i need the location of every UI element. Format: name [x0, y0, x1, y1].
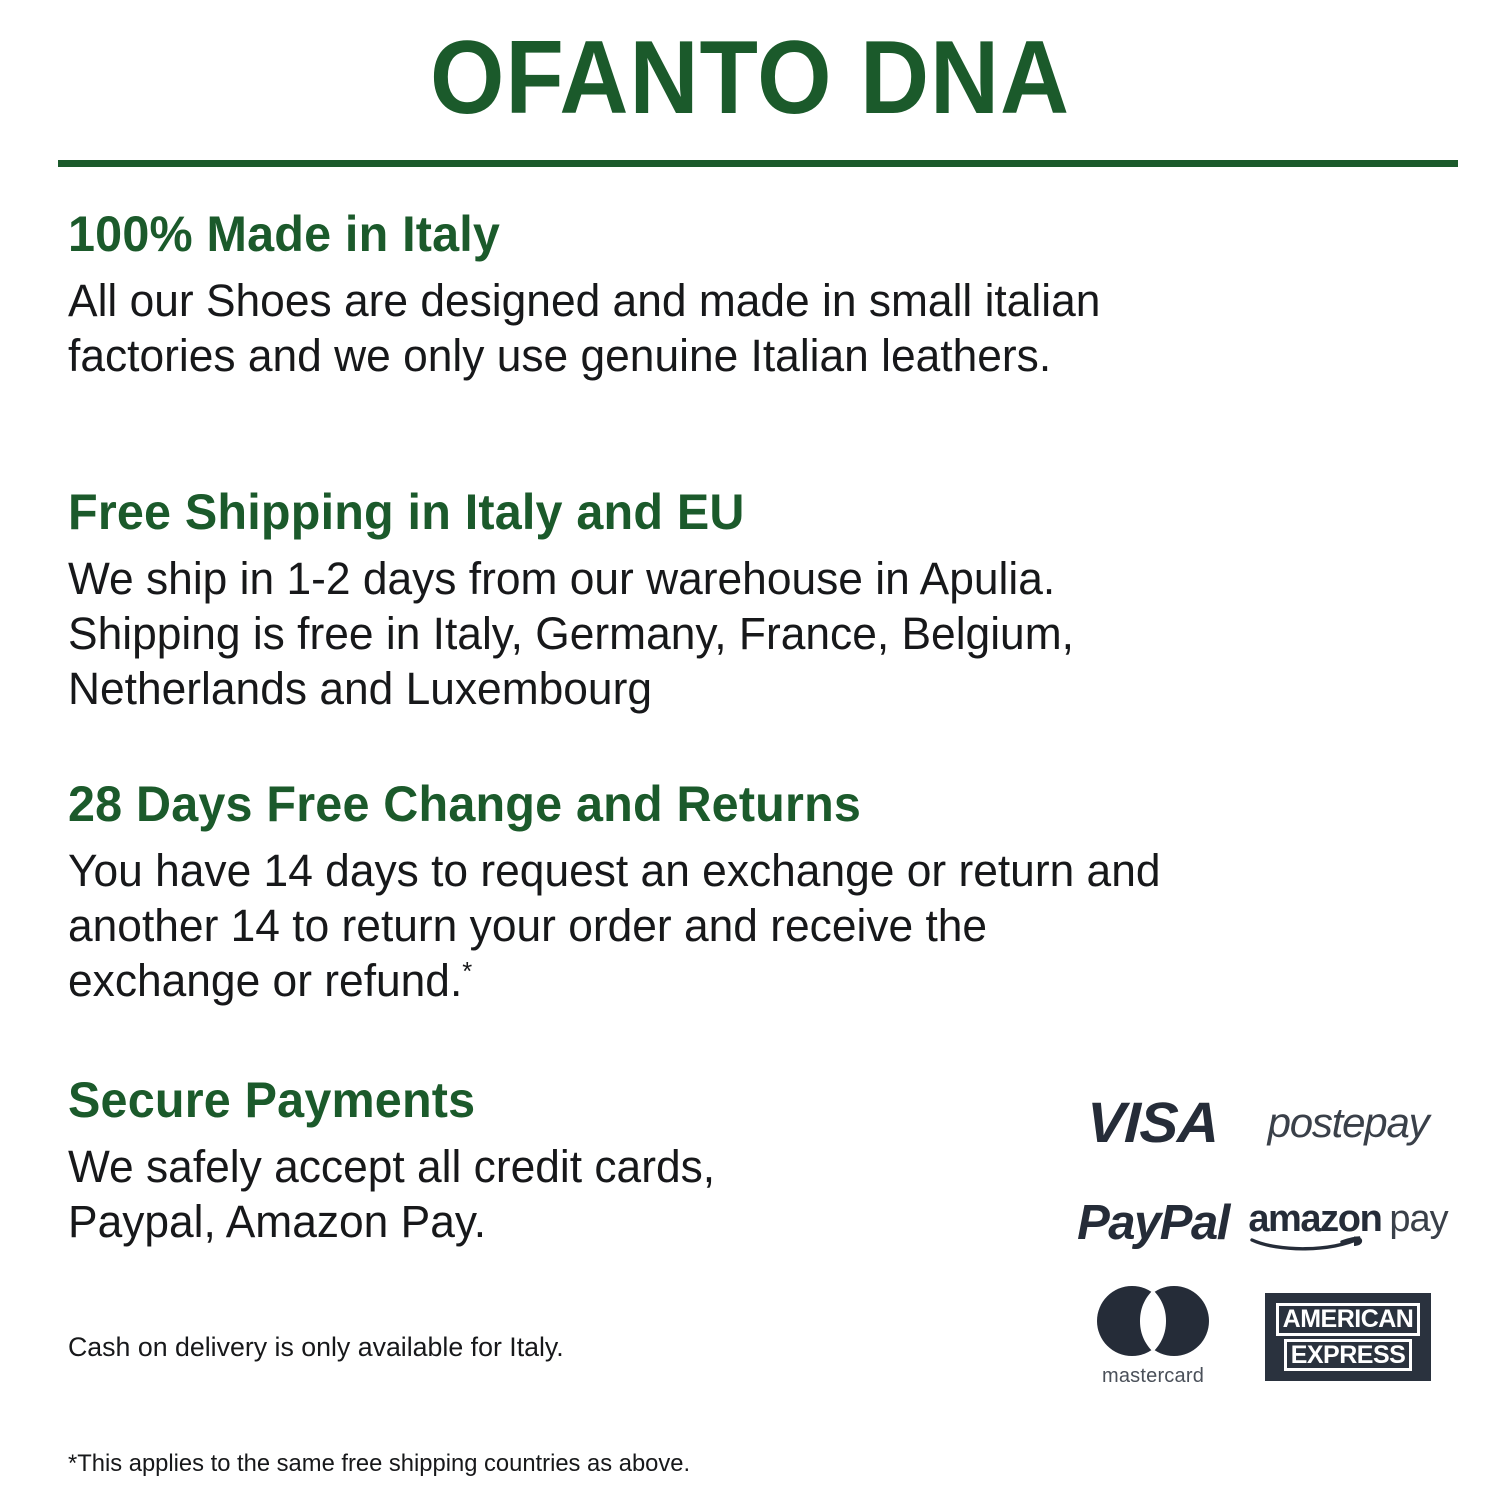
amazon-pay-word: pay — [1389, 1198, 1447, 1240]
section-secure-payments: Secure Payments We safely accept all cre… — [68, 1072, 725, 1250]
amex-line-2: EXPRESS — [1284, 1339, 1413, 1371]
payment-row-1: VISA postepay — [1055, 1085, 1445, 1161]
payment-methods-group: VISA postepay PayPal amazonpay — [1055, 1085, 1445, 1389]
section-heading-secure-payments: Secure Payments — [68, 1072, 705, 1128]
body-line: All our Shoes are designed and made in s… — [68, 274, 1100, 329]
cash-on-delivery-note: Cash on delivery is only available for I… — [68, 1331, 564, 1365]
footnote-marker: * — [462, 956, 472, 986]
payment-row-2: PayPal amazonpay — [1055, 1185, 1445, 1261]
body-line: Netherlands and Luxembourg — [68, 662, 1074, 717]
amazon-pay-wrap: amazonpay — [1248, 1198, 1447, 1249]
postepay-logo: postepay — [1251, 1085, 1445, 1161]
section-made-in-italy: 100% Made in Italy All our Shoes are des… — [68, 206, 1116, 384]
amex-box: AMERICAN EXPRESS — [1265, 1293, 1431, 1381]
mastercard-wordmark: mastercard — [1102, 1365, 1204, 1388]
section-body-returns: You have 14 days to request an exchange … — [68, 844, 1161, 1009]
body-line: Paypal, Amazon Pay. — [68, 1195, 715, 1250]
body-line: factories and we only use genuine Italia… — [68, 329, 1100, 384]
body-line-text: exchange or refund. — [68, 955, 462, 1006]
visa-wordmark: VISA — [1086, 1090, 1220, 1156]
paypal-wordmark: PayPal — [1077, 1195, 1229, 1251]
page-title: OFANTO DNA — [60, 26, 1440, 130]
body-line: You have 14 days to request an exchange … — [68, 844, 1161, 899]
section-free-shipping: Free Shipping in Italy and EU We ship in… — [68, 484, 1089, 717]
dna-info-page: OFANTO DNA 100% Made in Italy All our Sh… — [0, 0, 1500, 1500]
section-heading-free-shipping: Free Shipping in Italy and EU — [68, 484, 1059, 540]
amazon-wordmark: amazon — [1248, 1198, 1381, 1240]
amazon-pay-logo: amazonpay — [1251, 1185, 1445, 1261]
mastercard-overlap-icon — [1097, 1286, 1209, 1356]
visa-logo: VISA — [1055, 1085, 1251, 1161]
postepay-wordmark: postepay — [1268, 1099, 1429, 1147]
body-line: We safely accept all credit cards, — [68, 1140, 715, 1195]
mastercard-circles-icon — [1097, 1286, 1209, 1356]
paypal-logo: PayPal — [1055, 1185, 1251, 1261]
footnote-text: *This applies to the same free shipping … — [68, 1449, 690, 1479]
section-returns: 28 Days Free Change and Returns You have… — [68, 776, 1177, 1009]
section-body-free-shipping: We ship in 1-2 days from our warehouse i… — [68, 552, 1074, 717]
body-line: We ship in 1-2 days from our warehouse i… — [68, 552, 1074, 607]
body-line-with-footnote: exchange or refund.* — [68, 954, 1161, 1009]
header-divider — [58, 160, 1458, 167]
body-line: Shipping is free in Italy, Germany, Fran… — [68, 607, 1074, 662]
mastercard-wrap: mastercard — [1097, 1286, 1209, 1388]
section-heading-returns: 28 Days Free Change and Returns — [68, 776, 1144, 832]
brand-header: OFANTO DNA — [0, 26, 1500, 130]
section-heading-made-in-italy: 100% Made in Italy — [68, 206, 1085, 262]
mastercard-logo: mastercard — [1055, 1285, 1251, 1389]
american-express-logo: AMERICAN EXPRESS — [1251, 1285, 1445, 1389]
section-body-secure-payments: We safely accept all credit cards, Paypa… — [68, 1140, 715, 1250]
body-line: another 14 to return your order and rece… — [68, 899, 1161, 954]
amazon-swoosh-icon — [1250, 1235, 1376, 1253]
section-body-made-in-italy: All our Shoes are designed and made in s… — [68, 274, 1100, 384]
amex-line-1: AMERICAN — [1276, 1303, 1421, 1335]
payment-row-3: mastercard AMERICAN EXPRESS — [1055, 1285, 1445, 1389]
